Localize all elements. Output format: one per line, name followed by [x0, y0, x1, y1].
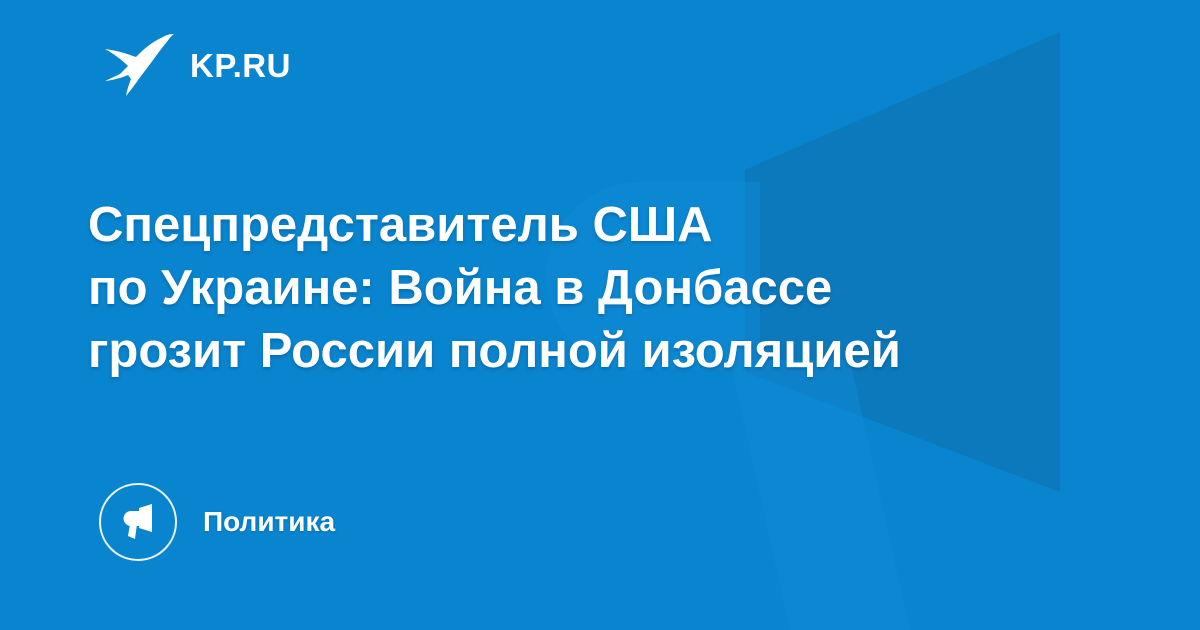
- swallow-bird-icon: [100, 34, 174, 96]
- category-icon-circle: [99, 483, 177, 561]
- page-title: Спецпредставитель США по Украине: Война …: [88, 194, 1098, 383]
- headline-line-2: по Украине: Война в Донбассе: [88, 257, 1098, 320]
- brand-name: KP.RU: [190, 49, 291, 82]
- megaphone-icon: [118, 502, 158, 542]
- category-badge[interactable]: Политика: [99, 483, 335, 561]
- brand-logo[interactable]: KP.RU: [100, 34, 291, 96]
- category-label: Политика: [203, 508, 335, 536]
- headline-line-3: грозит России полной изоляцией: [88, 320, 1098, 383]
- share-card: KP.RU Спецпредставитель США по Украине: …: [0, 0, 1200, 630]
- headline-line-1: Спецпредставитель США: [88, 194, 1098, 257]
